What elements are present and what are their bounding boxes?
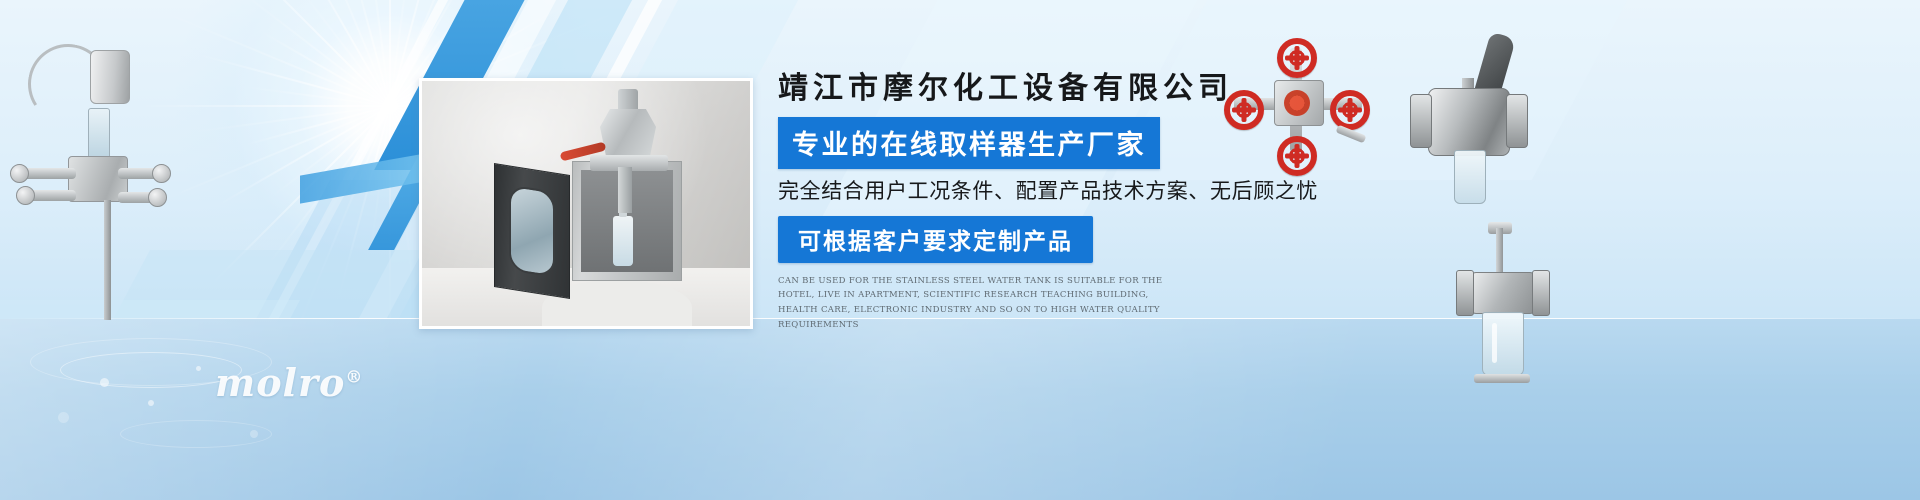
red-handwheel-icon <box>1330 90 1370 130</box>
valve-flange <box>1506 94 1528 148</box>
sampler-flange <box>1532 270 1550 316</box>
red-handwheel-icon <box>1224 90 1264 130</box>
product-knob <box>10 164 29 183</box>
blue-accent-shape <box>300 154 420 203</box>
floor-sheen <box>0 319 1920 500</box>
product-knob <box>16 186 35 205</box>
headline-highlight: 专业的在线取样器生产厂家 <box>778 117 1160 169</box>
sampler-base <box>1474 374 1530 383</box>
promo-banner: 靖江市摩尔化工设备有限公司 专业的在线取样器生产厂家 完全结合用户工况条件、配置… <box>0 0 1920 500</box>
inline-sampler-product-image <box>1430 228 1580 398</box>
tagline-container: 可根据客户要求定制产品 <box>778 216 1398 263</box>
product-knob <box>148 188 167 207</box>
left-product-image <box>10 26 170 316</box>
photo-downpipe <box>618 167 632 213</box>
photo-cabinet-door <box>494 163 570 299</box>
valve-flange <box>1410 94 1432 148</box>
water-droplet <box>196 366 201 371</box>
valve-body <box>1428 88 1510 156</box>
red-handwheel-icon <box>1277 136 1317 176</box>
red-handwheel-icon <box>1277 38 1317 78</box>
water-droplet <box>148 400 154 406</box>
lever-valve-product-image <box>1408 30 1538 230</box>
water-ripple <box>120 420 272 448</box>
photo-sample-bottle <box>613 216 633 266</box>
photo-door-window <box>509 184 555 277</box>
sampler-body <box>1470 272 1536 314</box>
brand-watermark: molro® <box>215 360 363 405</box>
product-head <box>90 50 130 104</box>
product-sight-glass <box>88 108 110 160</box>
water-droplet <box>58 412 69 423</box>
product-mounting-post <box>104 200 111 320</box>
sampler-rod <box>1496 228 1503 274</box>
water-droplet <box>100 378 109 387</box>
water-droplet <box>250 430 258 438</box>
sampler-sight-glass <box>1482 312 1524 376</box>
registered-mark-icon: ® <box>345 367 363 387</box>
floor-surface <box>0 319 1920 500</box>
watermark-text: molro <box>215 360 345 405</box>
manifold-product-image <box>1218 42 1378 162</box>
product-photo <box>419 78 753 329</box>
tagline-highlight: 可根据客户要求定制产品 <box>778 216 1093 263</box>
english-description: CAN BE USED FOR THE STAINLESS STEEL WATE… <box>778 274 1174 332</box>
product-knob <box>152 164 171 183</box>
sampler-flange <box>1456 270 1474 316</box>
manifold-logo-badge <box>1284 90 1310 116</box>
subline-text: 完全结合用户工况条件、配置产品技术方案、无后顾之忧 <box>778 178 1398 206</box>
valve-sight-glass <box>1454 150 1486 204</box>
